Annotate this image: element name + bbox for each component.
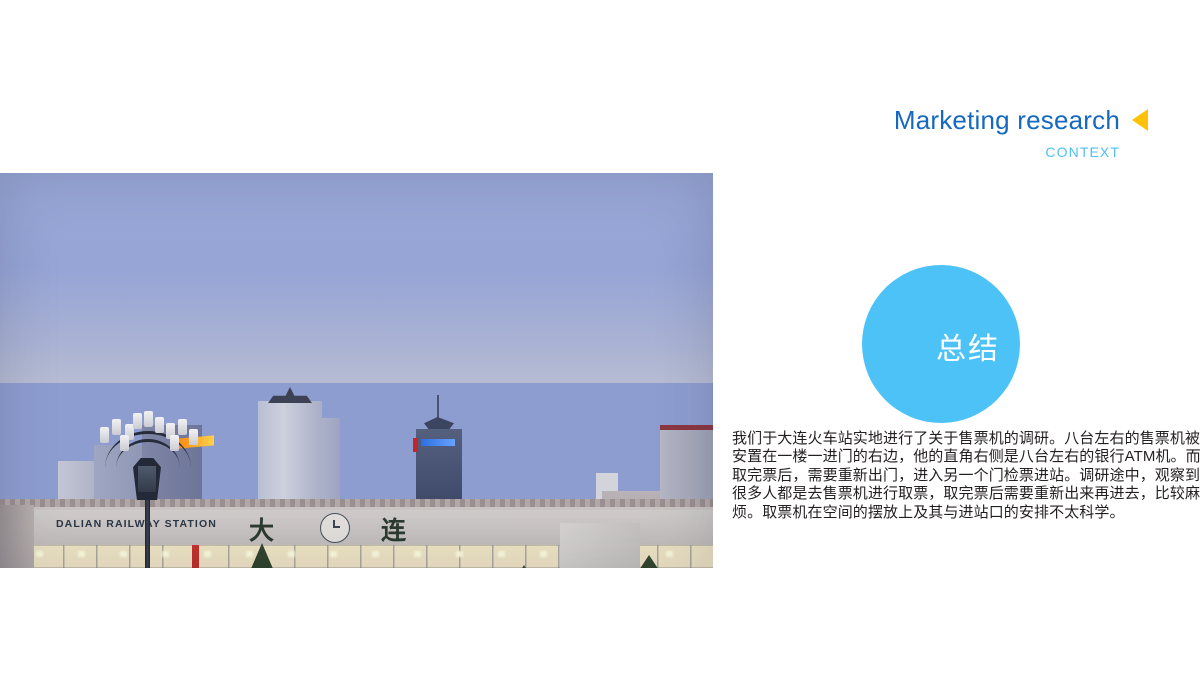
vertical-red-banner	[192, 545, 199, 568]
pagoda-roof-icon	[268, 387, 312, 403]
summary-body-text: 我们于大连火车站实地进行了关于售票机的调研。八台左右的售票机被安置在一楼一进门的…	[732, 430, 1200, 522]
sky-background	[0, 173, 713, 383]
lamp-bulb	[170, 435, 179, 451]
page-title: Marketing research	[894, 104, 1120, 136]
header-title-row: Marketing research	[728, 104, 1148, 136]
lamp-bulb	[189, 429, 198, 445]
summary-badge-label: 总结	[936, 324, 1000, 368]
clock-minute-hand	[333, 526, 340, 528]
lamp-bulb	[120, 435, 129, 451]
page-subtitle: CONTEXT	[728, 144, 1120, 160]
skyline-antenna	[437, 395, 439, 419]
lamp-bulb	[178, 419, 187, 435]
street-lamp-bulb-cluster	[100, 413, 198, 447]
station-left-wall	[0, 505, 34, 568]
slide-header: Marketing research CONTEXT	[728, 104, 1148, 160]
station-cornice	[0, 499, 713, 507]
analog-clock-icon	[320, 513, 350, 543]
lamp-bulb	[100, 427, 109, 443]
station-name-english: DALIAN RAILWAY STATION	[56, 518, 217, 530]
lamp-bulb	[133, 413, 142, 429]
skyline-building-right-roof	[660, 425, 713, 430]
skyline-pagoda-tower	[258, 401, 322, 501]
street-lamp-lantern-glass	[138, 466, 156, 492]
station-name-chinese-1: 大	[249, 511, 274, 547]
street-lamp-post	[145, 491, 150, 568]
skyline-tower-red-light	[413, 438, 418, 452]
skyline-tower-led-sign	[421, 439, 455, 446]
station-photo: DALIAN RAILWAY STATION 大 连	[0, 173, 713, 568]
station-name-chinese-2: 连	[381, 511, 406, 547]
lamp-bulb	[155, 417, 164, 433]
lamp-bulb	[144, 411, 153, 427]
lamp-bulb	[112, 419, 121, 435]
summary-badge: 总结	[862, 265, 1020, 423]
left-triangle-icon	[1132, 109, 1148, 131]
station-right-wall	[560, 523, 640, 568]
